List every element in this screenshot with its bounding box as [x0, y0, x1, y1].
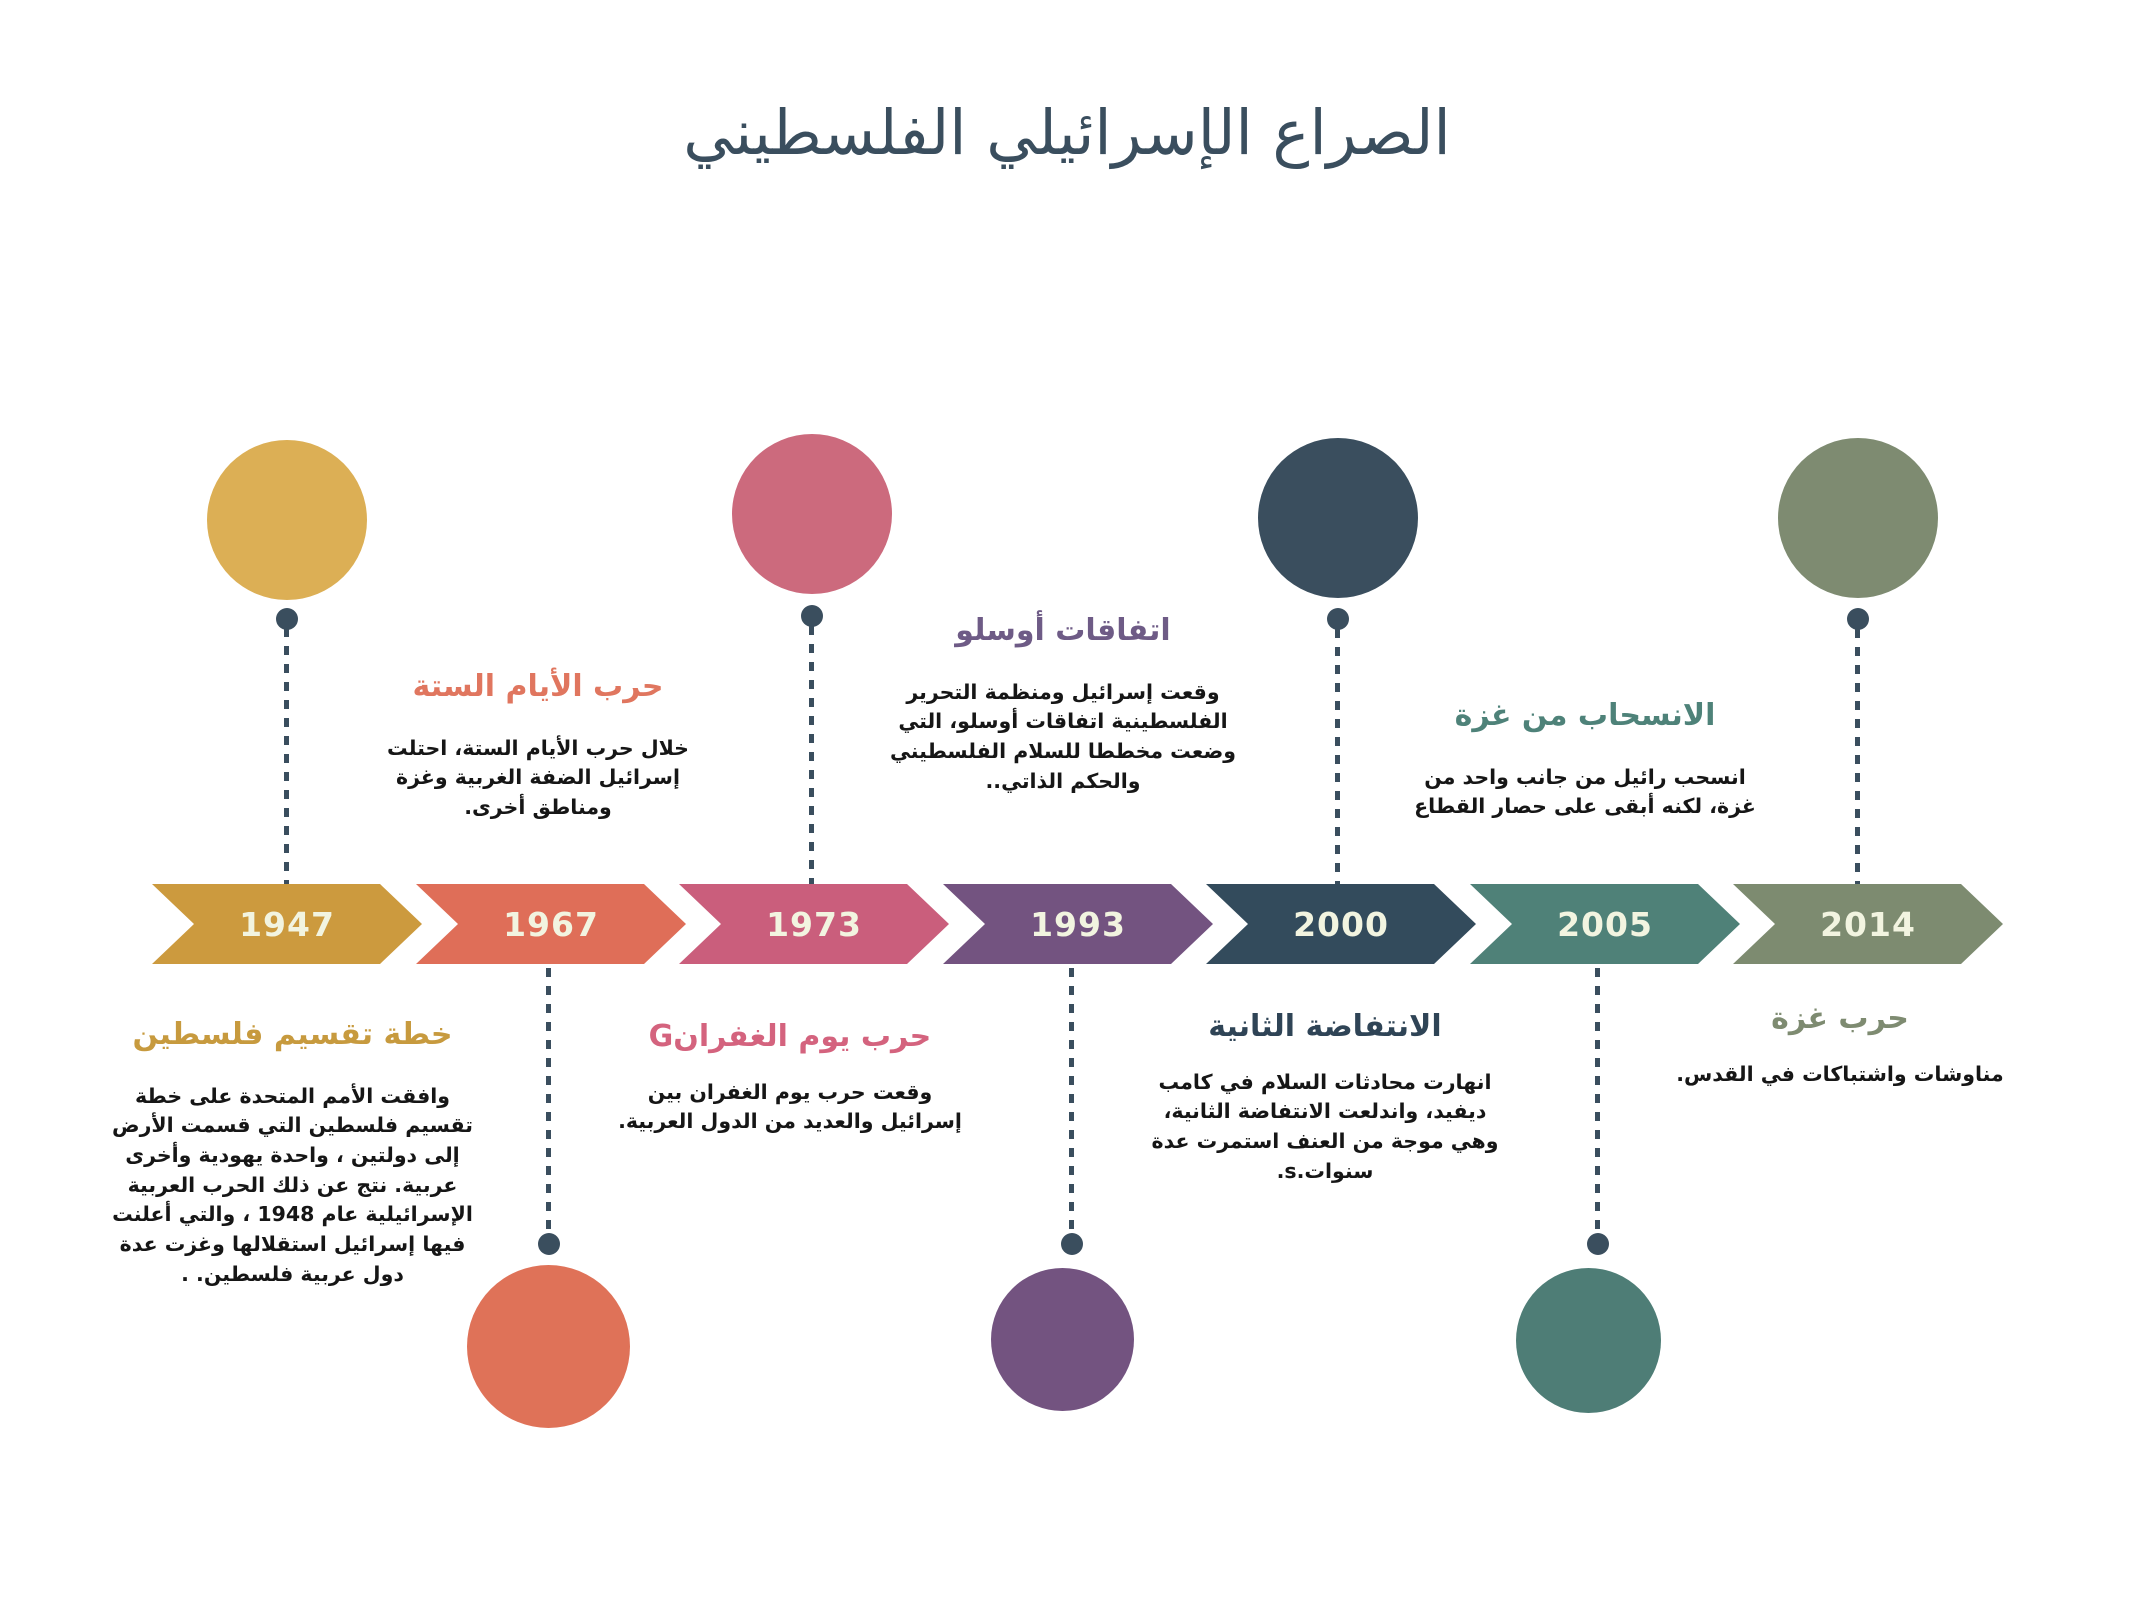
milestone-body-1993: وقعت إسرائيل ومنظمة التحرير الفلسطينية ا… — [878, 678, 1248, 797]
milestone-block-2000: الانتفاضة الثانية انهارت محادثات السلام … — [1145, 1008, 1505, 1186]
node-dot-1973-top — [801, 605, 823, 627]
page-title: الصراع الإسرائيلي الفلسطيني — [0, 96, 2134, 169]
year-arrow-1947[interactable]: 1947 — [152, 884, 422, 964]
node-dot-2005-bottom — [1587, 1233, 1609, 1255]
stem-1993 — [1069, 968, 1074, 1230]
year-arrow-1967[interactable]: 1967 — [416, 884, 686, 964]
stem-2005 — [1595, 968, 1600, 1230]
milestone-body-2000: انهارت محادثات السلام في كامب ديفيد، وان… — [1145, 1068, 1505, 1187]
bubble-2005 — [1516, 1268, 1661, 1413]
bubble-1947 — [207, 440, 367, 600]
timeline-infographic: الصراع الإسرائيلي الفلسطيني 1947 1967 19… — [0, 0, 2134, 1600]
year-arrow-band: 1947 1967 1973 1993 2000 2005 2014 — [0, 884, 2134, 964]
milestone-block-1947: خطة تقسيم فلسطين وافقت الأمم المتحدة على… — [100, 1016, 485, 1290]
stem-1967 — [546, 968, 551, 1230]
year-arrow-1973[interactable]: 1973 — [679, 884, 949, 964]
milestone-heading-2005: الانسحاب من غزة — [1400, 697, 1770, 735]
stem-1947 — [284, 628, 289, 886]
stem-1973 — [809, 626, 814, 886]
milestone-heading-1947: خطة تقسيم فلسطين — [100, 1016, 485, 1054]
year-arrow-2005[interactable]: 2005 — [1470, 884, 1740, 964]
bubble-1993 — [991, 1268, 1134, 1411]
milestone-heading-2000: الانتفاضة الثانية — [1145, 1008, 1505, 1046]
year-label-1993: 1993 — [1030, 905, 1126, 944]
milestone-heading-1993: اتفاقات أوسلو — [878, 612, 1248, 650]
year-arrow-2014[interactable]: 2014 — [1733, 884, 2003, 964]
bubble-2000 — [1258, 438, 1418, 598]
year-label-2014: 2014 — [1820, 905, 1916, 944]
bubble-1967 — [467, 1265, 630, 1428]
node-dot-1993-bottom — [1061, 1233, 1083, 1255]
node-dot-1947-top — [276, 608, 298, 630]
milestone-body-1973: وقعت حرب يوم الغفران بين إسرائيل والعديد… — [605, 1078, 975, 1137]
year-label-2005: 2005 — [1557, 905, 1653, 944]
stem-2000 — [1335, 629, 1340, 886]
node-dot-1967-bottom — [538, 1233, 560, 1255]
node-dot-2000-top — [1327, 608, 1349, 630]
year-label-2000: 2000 — [1293, 905, 1389, 944]
milestone-heading-1973: حرب يوم الغفرانG — [605, 1018, 975, 1056]
year-label-1967: 1967 — [503, 905, 599, 944]
milestone-heading-1967: حرب الأيام الستة — [358, 668, 718, 706]
year-label-1973: 1973 — [766, 905, 862, 944]
milestone-body-1947: وافقت الأمم المتحدة على خطة تقسيم فلسطين… — [100, 1082, 485, 1290]
year-arrow-1993[interactable]: 1993 — [943, 884, 1213, 964]
milestone-block-1973: حرب يوم الغفرانG وقعت حرب يوم الغفران بي… — [605, 1018, 975, 1137]
milestone-heading-2014: حرب غزة — [1660, 1000, 2020, 1038]
milestone-block-2005: الانسحاب من غزة انسحب رائيل من جانب واحد… — [1400, 697, 1770, 822]
milestone-block-1967: حرب الأيام الستة خلال حرب الأيام الستة، … — [358, 668, 718, 823]
year-label-1947: 1947 — [239, 905, 335, 944]
bubble-2014 — [1778, 438, 1938, 598]
milestone-body-2005: انسحب رائيل من جانب واحد من غزة، لكنه أب… — [1400, 763, 1770, 822]
year-arrow-2000[interactable]: 2000 — [1206, 884, 1476, 964]
milestone-body-1967: خلال حرب الأيام الستة، احتلت إسرائيل الض… — [358, 734, 718, 823]
bubble-1973 — [732, 434, 892, 594]
stem-2014 — [1855, 629, 1860, 886]
milestone-block-1993: اتفاقات أوسلو وقعت إسرائيل ومنظمة التحري… — [878, 612, 1248, 796]
milestone-body-2014: مناوشات واشتباكات في القدس. — [1660, 1060, 2020, 1090]
milestone-block-2014: حرب غزة مناوشات واشتباكات في القدس. — [1660, 1000, 2020, 1089]
node-dot-2014-top — [1847, 608, 1869, 630]
